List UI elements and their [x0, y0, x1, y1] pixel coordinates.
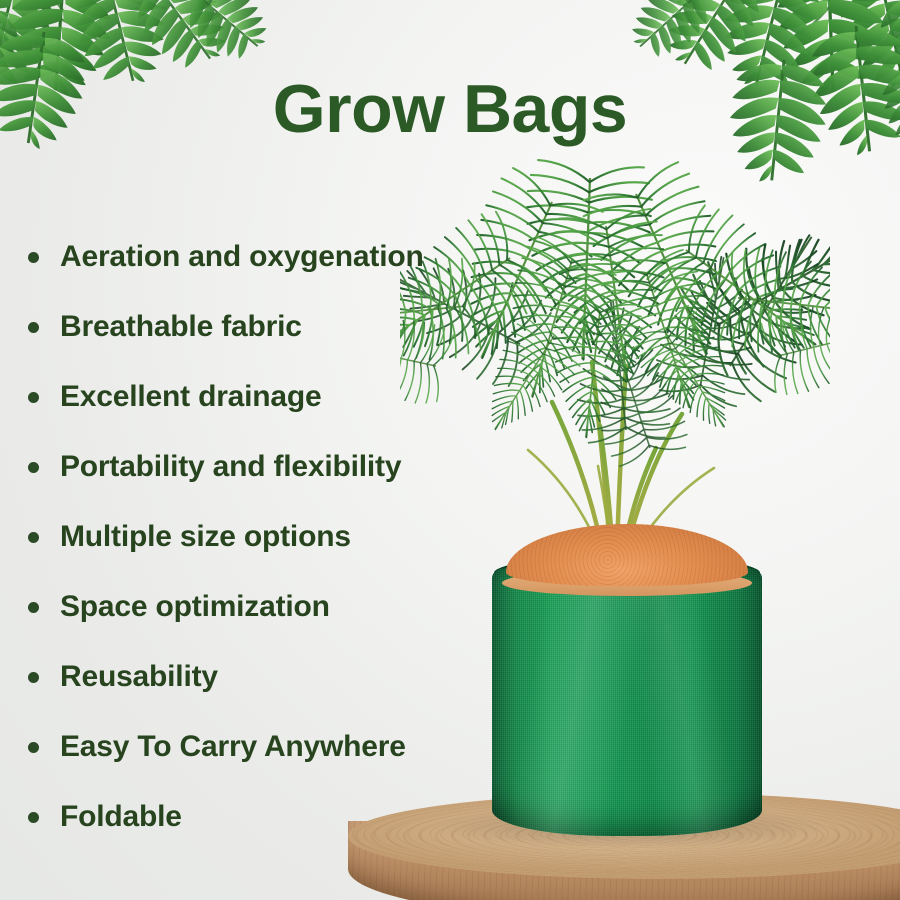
- list-item: Easy To Carry Anywhere: [28, 712, 548, 782]
- feature-label: Aeration and oxygenation: [60, 242, 424, 272]
- feature-label: Easy To Carry Anywhere: [60, 732, 406, 762]
- feature-label: Excellent drainage: [60, 382, 322, 412]
- bullet-icon: [28, 322, 39, 333]
- feature-label: Foldable: [60, 802, 182, 832]
- feature-list: Aeration and oxygenation Breathable fabr…: [28, 222, 548, 852]
- list-item: Space optimization: [28, 572, 548, 642]
- list-item: Aeration and oxygenation: [28, 222, 548, 292]
- feature-label: Space optimization: [60, 592, 330, 622]
- bullet-icon: [28, 812, 39, 823]
- list-item: Foldable: [28, 782, 548, 852]
- list-item: Reusability: [28, 642, 548, 712]
- list-item: Portability and flexibility: [28, 432, 548, 502]
- list-item: Multiple size options: [28, 502, 548, 572]
- feature-label: Portability and flexibility: [60, 452, 401, 482]
- bullet-icon: [28, 252, 39, 263]
- bullet-icon: [28, 532, 39, 543]
- feature-label: Breathable fabric: [60, 312, 302, 342]
- bullet-icon: [28, 672, 39, 683]
- bullet-icon: [28, 462, 39, 473]
- bullet-icon: [28, 742, 39, 753]
- page-title: Grow Bags: [0, 70, 900, 148]
- feature-label: Multiple size options: [60, 522, 351, 552]
- bullet-icon: [28, 392, 39, 403]
- bullet-icon: [28, 602, 39, 613]
- poster-canvas: Grow Bags Aeration and oxygenation Breat…: [0, 0, 900, 900]
- feature-label: Reusability: [60, 662, 218, 692]
- list-item: Excellent drainage: [28, 362, 548, 432]
- list-item: Breathable fabric: [28, 292, 548, 362]
